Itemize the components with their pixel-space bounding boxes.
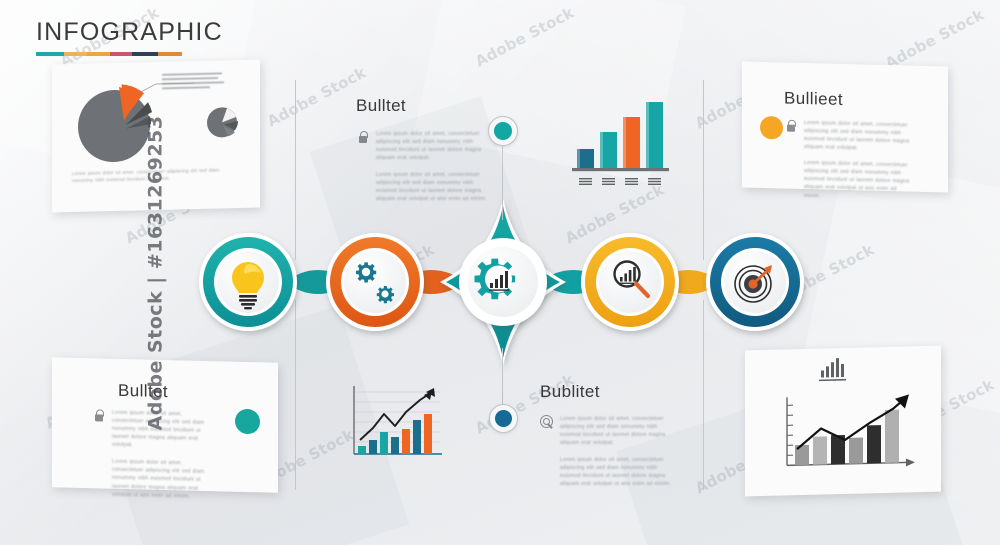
chain-step-2[interactable] xyxy=(326,233,424,331)
chain-step-5[interactable] xyxy=(706,233,804,331)
node-stem-top xyxy=(502,134,503,220)
timeline-node-bottom[interactable] xyxy=(489,404,518,433)
process-chain xyxy=(0,0,1000,545)
node-stem-bottom xyxy=(502,348,503,408)
timeline-node-top[interactable] xyxy=(488,116,518,146)
chain-step-3[interactable] xyxy=(459,238,547,326)
chain-step-4[interactable] xyxy=(581,233,679,331)
infographic-canvas: Adobe Stock Adobe Stock Adobe Stock Adob… xyxy=(0,0,1000,545)
chain-step-1[interactable] xyxy=(199,233,297,331)
gear-chart-icon xyxy=(475,259,516,300)
